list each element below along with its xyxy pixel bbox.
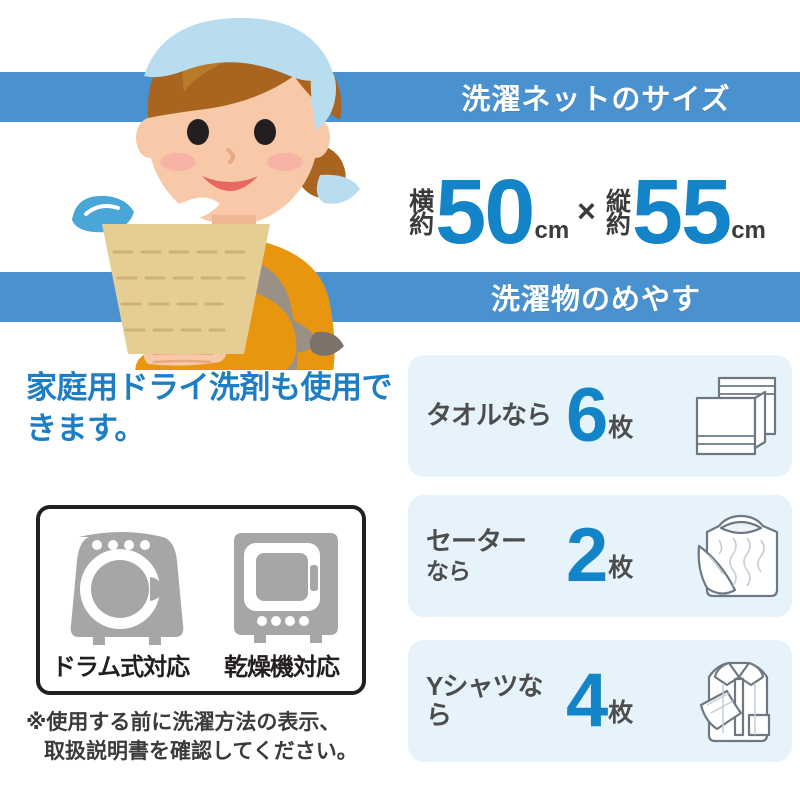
towel-side-fold [755, 392, 765, 448]
towel-front [697, 398, 755, 454]
laundry-basket [102, 224, 270, 354]
capacity-count-sweater: 2 枚 [566, 526, 682, 587]
height-unit: cm [731, 217, 766, 250]
bandana-side [311, 54, 336, 130]
footnote-line-2: 取扱説明書を確認してください。 [26, 737, 406, 766]
width-value: 50 [435, 175, 533, 250]
footnote-line-1: ※使用する前に洗濯方法の表示、 [26, 711, 340, 734]
height-prefix: 縦 約 [606, 191, 631, 251]
capacity-card-sweater: セーター なら 2 枚 [408, 495, 792, 617]
capacity-number-shirt: 4 [566, 671, 606, 732]
appliance-compatibility-box: ドラム式対応 乾燥機対応 [36, 505, 366, 695]
dry-detergent-note: 家庭用ドライ洗剤も使用できます。 [26, 368, 396, 450]
dryer-door-handle [310, 565, 318, 591]
ponytail-tie [317, 175, 360, 204]
size-section-header: 洗濯ネットのサイズ [392, 72, 800, 122]
footnote: ※使用する前に洗濯方法の表示、 取扱説明書を確認してください。 [26, 708, 406, 767]
laundry-section-header: 洗濯物のめやす [392, 272, 800, 322]
height-prefix-bottom: 約 [606, 214, 631, 238]
height-value: 55 [632, 175, 730, 250]
capacity-label-sweater-main: セーター [426, 526, 526, 556]
dryer-icon [218, 519, 346, 645]
cheek-right [267, 153, 303, 171]
capacity-icon-wrap-towel [682, 368, 792, 464]
folded-towels-icon [685, 368, 789, 464]
capacity-card-shirt: Yシャツなら 4 枚 [408, 640, 792, 762]
woman-holding-laundry-basket-illustration [20, 10, 420, 370]
height-dimension: 縦 約 55 cm [606, 175, 766, 250]
capacity-unit-shirt: 枚 [608, 693, 633, 731]
appliance-dryer: 乾燥機対応 [201, 509, 362, 691]
capacity-label-shirt-main: Yシャツなら [426, 671, 542, 730]
capacity-label-sweater-sub: なら [426, 558, 470, 584]
appliance-label-drum: ドラム式対応 [52, 647, 189, 682]
shirt-pocket [749, 715, 769, 735]
capacity-number-sweater: 2 [566, 526, 606, 587]
appliance-drum-washer: ドラム式対応 [40, 509, 201, 691]
capacity-label-sweater: セーター なら [408, 527, 566, 585]
times-symbol: × [569, 193, 606, 250]
width-unit: cm [534, 217, 569, 250]
capacity-label-shirt: Yシャツなら [408, 672, 566, 730]
width-prefix: 横 約 [409, 191, 434, 251]
capacity-number-towel: 6 [566, 386, 606, 447]
capacity-icon-wrap-sweater [682, 508, 792, 604]
capacity-unit-towel: 枚 [608, 408, 633, 446]
capacity-unit-sweater: 枚 [608, 548, 633, 586]
apron-tie-right [310, 332, 344, 356]
ear-left [136, 118, 164, 158]
eye-left [187, 119, 209, 145]
eye-right [254, 119, 276, 145]
capacity-icon-wrap-shirt [682, 653, 792, 749]
capacity-label-towel: タオルなら [408, 401, 566, 430]
width-prefix-bottom: 約 [409, 214, 434, 238]
cheek-left [160, 153, 196, 171]
width-dimension: 横 約 50 cm [409, 175, 569, 250]
capacity-label-towel-main: タオルなら [426, 400, 551, 430]
capacity-card-towel: タオルなら 6 枚 [408, 355, 792, 477]
drum-washer-icon [57, 519, 185, 645]
appliance-label-dryer: 乾燥機対応 [224, 647, 339, 682]
dryer-door-panel [256, 553, 308, 601]
capacity-count-shirt: 4 枚 [566, 671, 682, 732]
sweater-icon [685, 508, 789, 604]
dress-shirt-icon [685, 653, 789, 749]
washer-drum [91, 560, 149, 618]
capacity-count-towel: 6 枚 [566, 386, 682, 447]
infographic-page: 洗濯ネットのサイズ 横 約 50 cm × 縦 約 55 cm 洗濯物のめやす … [0, 0, 800, 800]
size-measurements: 横 約 50 cm × 縦 約 55 cm [375, 135, 800, 250]
